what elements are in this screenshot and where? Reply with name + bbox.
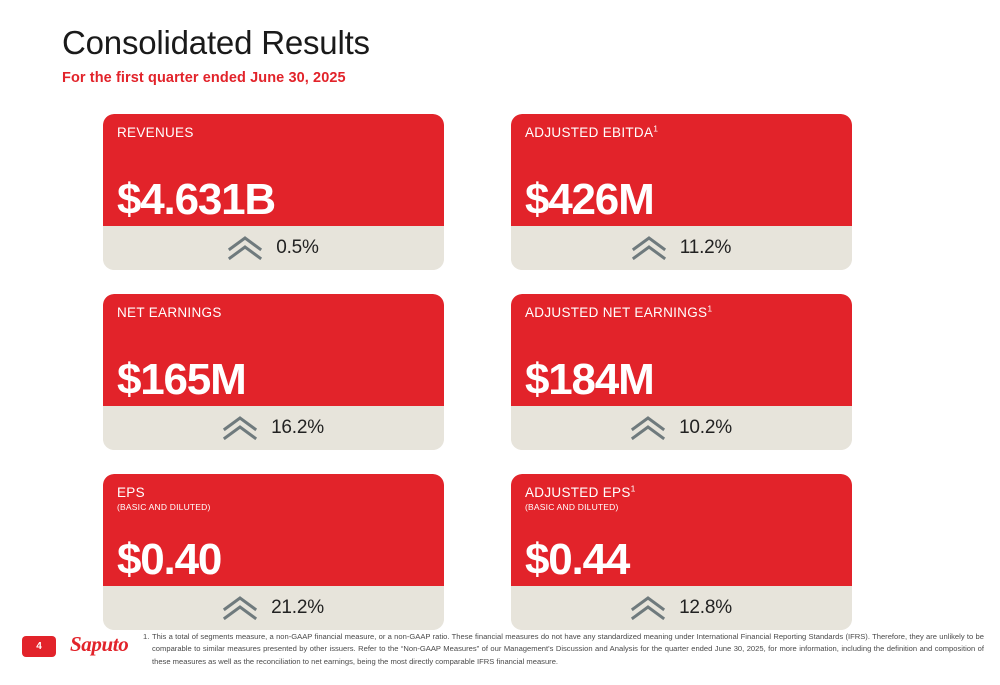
metric-card-footer: 0.5% <box>103 226 444 270</box>
metric-card-label: REVENUES <box>117 126 444 141</box>
metric-card-body: ADJUSTED EPS1(BASIC AND DILUTED)$0.44 <box>511 474 852 586</box>
double-chevron-up-icon <box>228 236 262 260</box>
page-title: Consolidated Results <box>62 24 370 62</box>
metric-card: ADJUSTED EPS1(BASIC AND DILUTED)$0.4412.… <box>511 474 852 630</box>
metric-card-body: ADJUSTED EBITDA1$426M <box>511 114 852 226</box>
metric-card-value: $0.44 <box>525 538 629 582</box>
metric-card-footer: 21.2% <box>103 586 444 630</box>
metric-card: NET EARNINGS$165M16.2% <box>103 294 444 450</box>
page-subtitle: For the first quarter ended June 30, 202… <box>62 70 370 86</box>
metric-card: REVENUES$4.631B0.5% <box>103 114 444 270</box>
metric-card-delta: 21.2% <box>271 597 324 619</box>
metric-card-value: $165M <box>117 358 246 402</box>
metric-card-value: $184M <box>525 358 654 402</box>
metric-card-label: NET EARNINGS <box>117 306 444 321</box>
double-chevron-up-icon <box>223 596 257 620</box>
double-chevron-up-icon <box>631 416 665 440</box>
metric-card-footer: 12.8% <box>511 586 852 630</box>
metric-card-footer: 11.2% <box>511 226 852 270</box>
metric-card-delta: 10.2% <box>679 417 732 439</box>
metric-card-delta: 0.5% <box>276 237 319 259</box>
metric-card: ADJUSTED EBITDA1$426M11.2% <box>511 114 852 270</box>
metric-card-value: $4.631B <box>117 178 275 222</box>
footnote-marker: 1 <box>631 484 636 494</box>
metric-card-label: ADJUSTED NET EARNINGS1 <box>525 306 852 321</box>
double-chevron-up-icon <box>631 596 665 620</box>
metric-card-footer: 10.2% <box>511 406 852 450</box>
metric-card-value: $0.40 <box>117 538 221 582</box>
double-chevron-up-icon <box>632 236 666 260</box>
metric-card-body: ADJUSTED NET EARNINGS1$184M <box>511 294 852 406</box>
slide-header: Consolidated Results For the first quart… <box>62 24 370 86</box>
metric-card-grid: REVENUES$4.631B0.5%ADJUSTED EBITDA1$426M… <box>103 114 843 630</box>
footnote-text: This a total of segments measure, a non-… <box>152 632 984 666</box>
metric-card-body: EPS(BASIC AND DILUTED)$0.40 <box>103 474 444 586</box>
metric-card-label: EPS <box>117 486 444 501</box>
metric-card-sublabel: (BASIC AND DILUTED) <box>525 502 852 513</box>
metric-card-label: ADJUSTED EBITDA1 <box>525 126 852 141</box>
footnote: 1.This a total of segments measure, a no… <box>152 631 984 668</box>
metric-card: EPS(BASIC AND DILUTED)$0.4021.2% <box>103 474 444 630</box>
metric-card-body: NET EARNINGS$165M <box>103 294 444 406</box>
metric-card-delta: 12.8% <box>679 597 732 619</box>
page-number-badge: 4 <box>22 636 56 657</box>
footnote-marker: 1 <box>653 124 658 134</box>
metric-card-body: REVENUES$4.631B <box>103 114 444 226</box>
slide-root: Consolidated Results For the first quart… <box>0 0 1000 685</box>
footnote-number: 1. <box>143 631 149 643</box>
metric-card-footer: 16.2% <box>103 406 444 450</box>
metric-card-value: $426M <box>525 178 654 222</box>
double-chevron-up-icon <box>223 416 257 440</box>
metric-card-label: ADJUSTED EPS1 <box>525 486 852 501</box>
metric-card: ADJUSTED NET EARNINGS1$184M10.2% <box>511 294 852 450</box>
footnote-marker: 1 <box>707 304 712 314</box>
metric-card-delta: 11.2% <box>680 237 731 259</box>
saputo-logo: Saputo <box>70 632 128 657</box>
metric-card-sublabel: (BASIC AND DILUTED) <box>117 502 444 513</box>
metric-card-delta: 16.2% <box>271 417 324 439</box>
